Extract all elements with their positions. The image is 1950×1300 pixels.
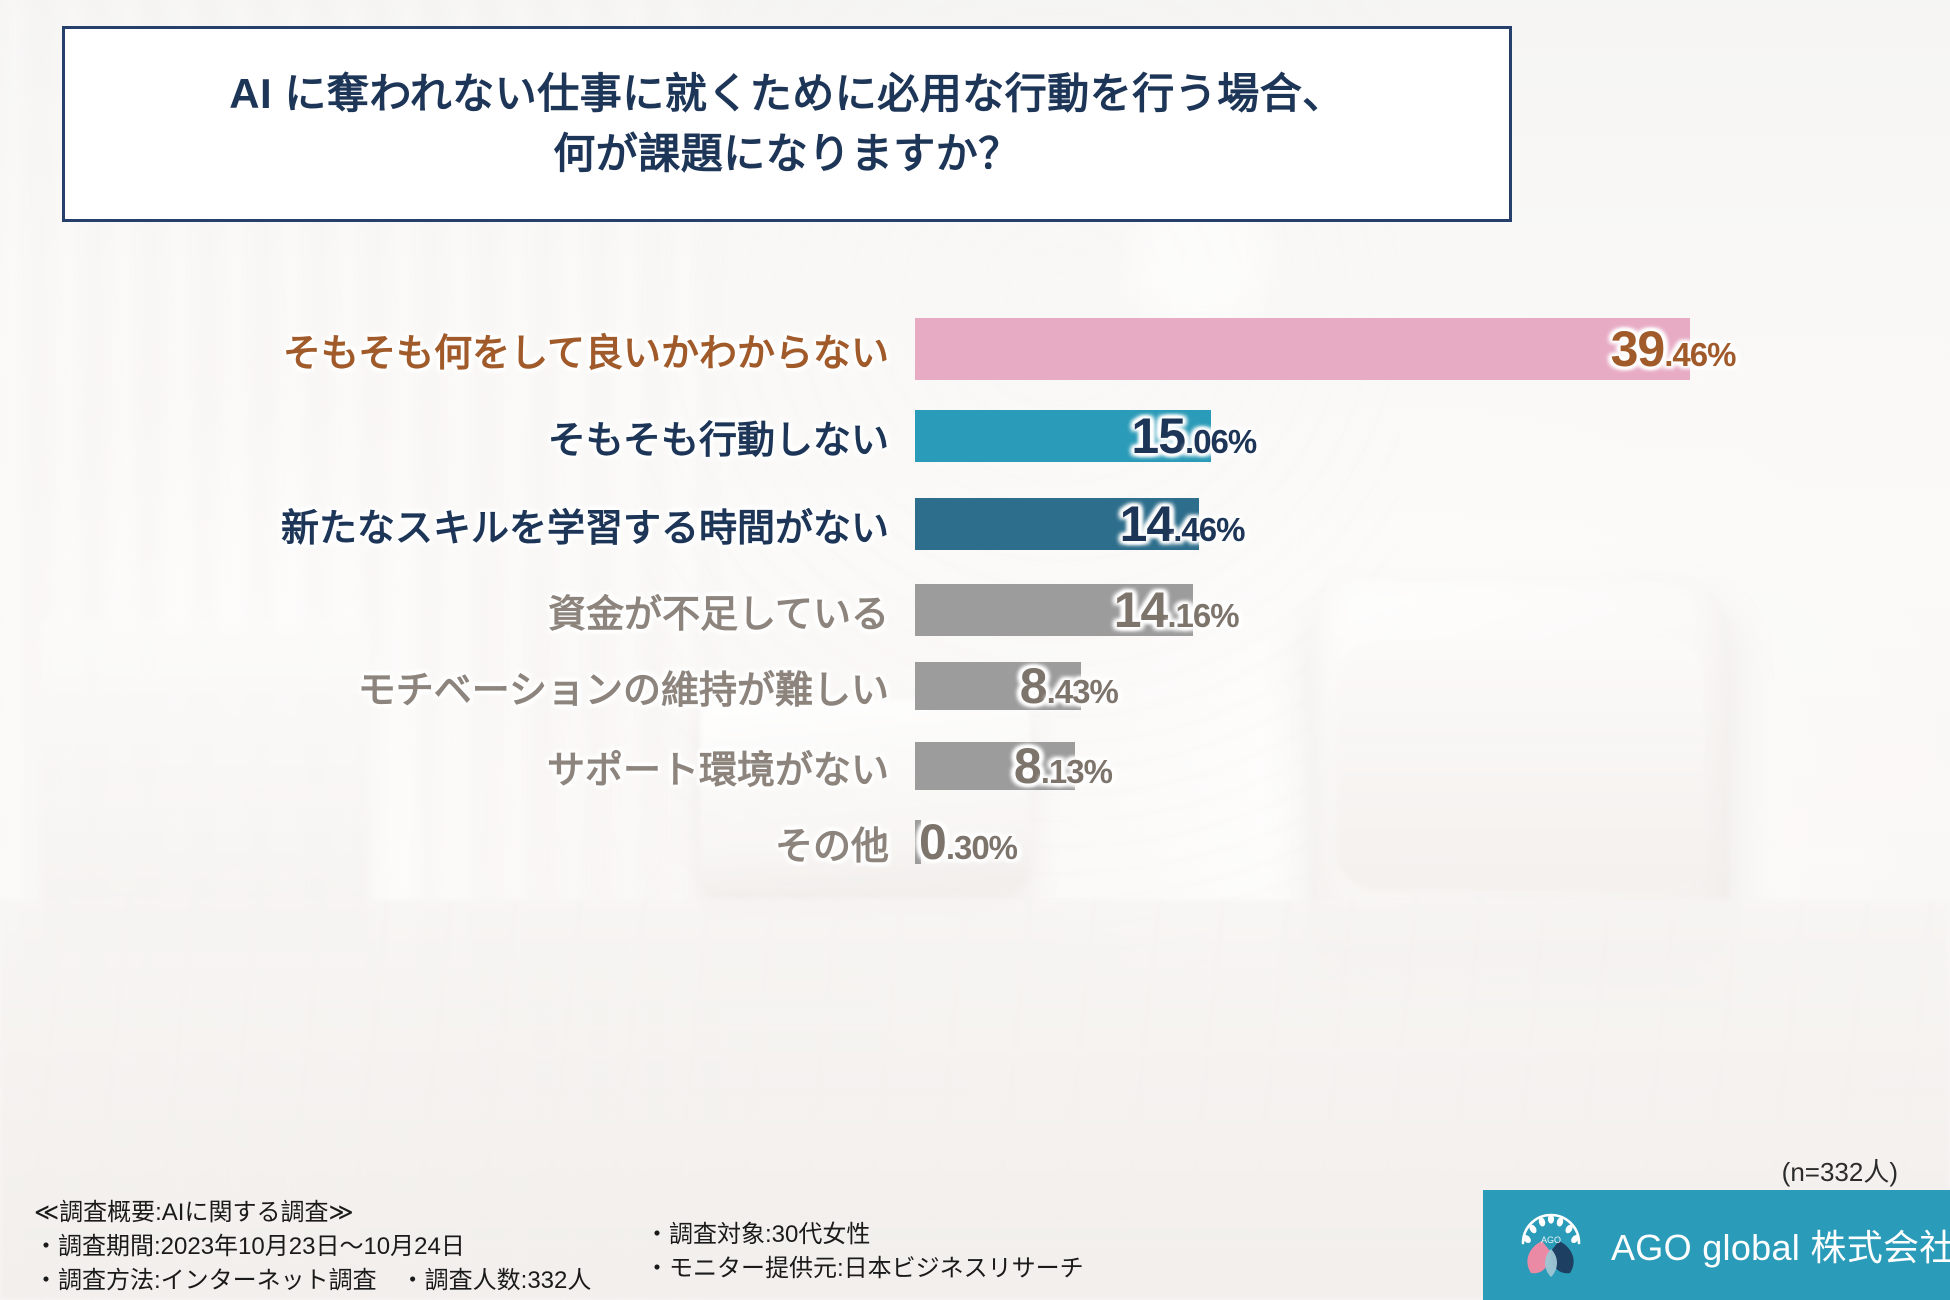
bar-value-label: 8.43% bbox=[1020, 657, 1118, 715]
bar-value-label: 14.46% bbox=[1120, 495, 1245, 553]
bar-value-integer: 14 bbox=[1114, 582, 1168, 638]
bar-value-decimal: .13% bbox=[1041, 753, 1112, 790]
bar-value-label: 0.30% bbox=[919, 813, 1017, 871]
survey-line-1: ≪調査概要:AIに関する調査≫ bbox=[34, 1196, 591, 1230]
bar bbox=[915, 318, 1690, 380]
svg-text:AGO: AGO bbox=[1541, 1235, 1561, 1245]
company-logo-bar: AGO AGO global 株式会社 bbox=[1483, 1190, 1950, 1300]
bar-chart: そもそも何をして良いかわからない39.46%そもそも行動しない15.06%新たな… bbox=[0, 300, 1950, 900]
category-label: そもそも何をして良いかわからない bbox=[0, 322, 915, 377]
bar-track: 39.46% bbox=[915, 318, 1950, 380]
category-label: そもそも行動しない bbox=[0, 409, 915, 464]
category-label: 資金が不足している bbox=[0, 583, 915, 638]
category-label: モチベーションの維持が難しい bbox=[0, 659, 915, 714]
bar-value-integer: 8 bbox=[1020, 658, 1047, 714]
bar-value-decimal: .43% bbox=[1047, 673, 1118, 710]
bar-value-integer: 0 bbox=[919, 814, 946, 870]
bar-value-decimal: .16% bbox=[1167, 597, 1238, 634]
bar-value-decimal: .46% bbox=[1664, 336, 1735, 373]
bar-track: 0.30% bbox=[915, 820, 1950, 864]
survey-overview-left: ≪調査概要:AIに関する調査≫ ・調査期間:2023年10月23日～10月24日… bbox=[34, 1196, 591, 1298]
title-box: AI に奪われない仕事に就くために必用な行動を行う場合、 何が課題になりますか？ bbox=[62, 26, 1512, 222]
page-title: AI に奪われない仕事に就くために必用な行動を行う場合、 何が課題になりますか？ bbox=[229, 64, 1345, 183]
category-label: 新たなスキルを学習する時間がない bbox=[0, 497, 915, 552]
bar-track: 14.16% bbox=[915, 584, 1950, 636]
chart-row: 資金が不足している14.16% bbox=[0, 584, 1950, 636]
bar-value-decimal: .46% bbox=[1173, 511, 1244, 548]
bar-value-integer: 15 bbox=[1131, 408, 1185, 464]
category-label: サポート環境がない bbox=[0, 739, 915, 794]
survey-line-3: ・調査方法:インターネット調査 ・調査人数:332人 bbox=[34, 1264, 591, 1298]
title-line-1: AI に奪われない仕事に就くために必用な行動を行う場合、 bbox=[229, 70, 1345, 117]
company-name: AGO global 株式会社 bbox=[1611, 1219, 1950, 1271]
bar-value-decimal: .06% bbox=[1185, 423, 1256, 460]
chart-row: モチベーションの維持が難しい8.43% bbox=[0, 662, 1950, 710]
survey-target-line: ・調査対象:30代女性 bbox=[645, 1218, 1084, 1252]
survey-line-2: ・調査期間:2023年10月23日～10月24日 bbox=[34, 1230, 591, 1264]
bar-value-label: 8.13% bbox=[1014, 737, 1112, 795]
bar-track: 15.06% bbox=[915, 410, 1950, 462]
bar-value-label: 15.06% bbox=[1131, 407, 1256, 465]
bar-value-label: 14.16% bbox=[1114, 581, 1239, 639]
bar-value-integer: 8 bbox=[1014, 738, 1041, 794]
survey-monitor-line: ・モニター提供元:日本ビジネスリサーチ bbox=[645, 1252, 1084, 1286]
chart-row: 新たなスキルを学習する時間がない14.46% bbox=[0, 498, 1950, 550]
chart-row: そもそも何をして良いかわからない39.46% bbox=[0, 318, 1950, 380]
bar-track: 8.43% bbox=[915, 662, 1950, 710]
bar-value-label: 39.46% bbox=[1611, 320, 1736, 378]
ago-global-logo-icon: AGO bbox=[1509, 1203, 1593, 1287]
chart-row: その他0.30% bbox=[0, 820, 1950, 864]
bar-value-integer: 14 bbox=[1120, 496, 1174, 552]
bar-value-decimal: .30% bbox=[946, 829, 1017, 866]
chart-row: そもそも行動しない15.06% bbox=[0, 410, 1950, 462]
survey-overview-right: ・調査対象:30代女性 ・モニター提供元:日本ビジネスリサーチ bbox=[645, 1218, 1084, 1286]
title-line-2: 何が課題になりますか？ bbox=[229, 124, 1345, 184]
bar-track: 14.46% bbox=[915, 498, 1950, 550]
chart-row: サポート環境がない8.13% bbox=[0, 742, 1950, 790]
bar-track: 8.13% bbox=[915, 742, 1950, 790]
category-label: その他 bbox=[0, 815, 915, 870]
sample-size-note: (n=332人) bbox=[1782, 1152, 1898, 1189]
bar-value-integer: 39 bbox=[1611, 321, 1665, 377]
